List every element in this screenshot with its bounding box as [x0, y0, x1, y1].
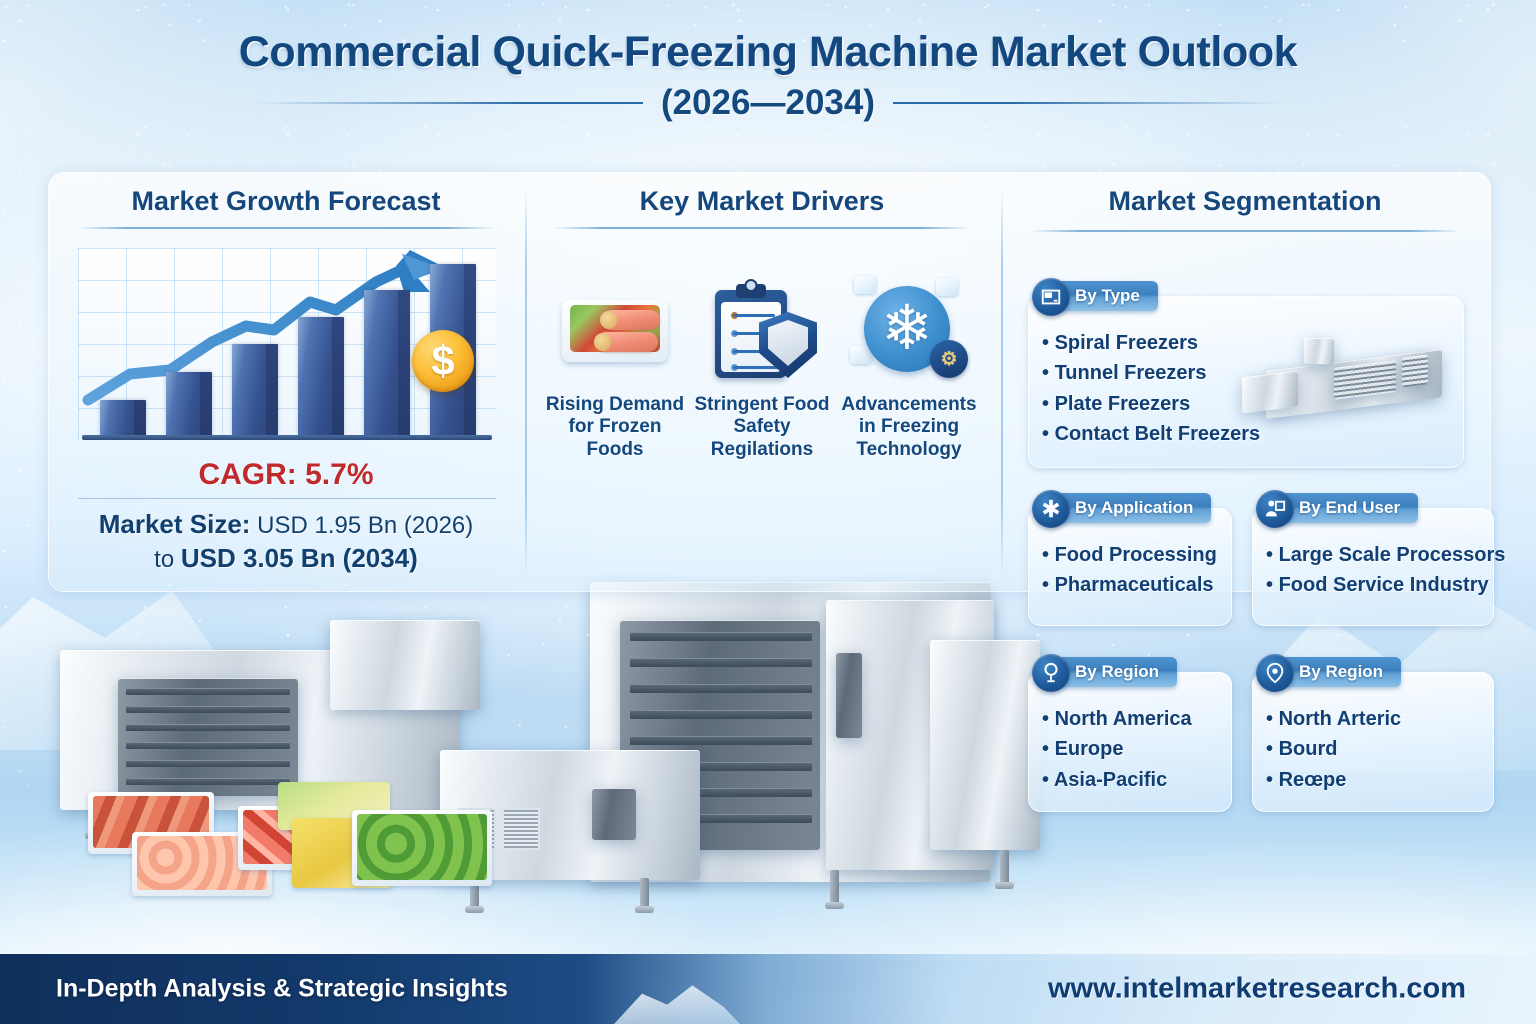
iceberg-decoration	[600, 978, 740, 1024]
infographic-root: Commercial Quick-Freezing Machine Market…	[0, 0, 1536, 1024]
segment-items: North Arteric Bourd Reœpe	[1266, 704, 1401, 795]
market-size-line2: to USD 3.05 Bn (2034)	[66, 542, 506, 576]
control-panel-screen	[836, 652, 862, 738]
segment-card-by-region-2[interactable]: By Region North Arteric Bourd Reœpe	[1252, 672, 1494, 812]
side-cabinet	[930, 640, 1040, 850]
machine-leg	[640, 878, 649, 908]
freezer-shelf	[126, 706, 290, 713]
medical-cross-icon	[1032, 490, 1070, 528]
footer-tagline: In-Depth Analysis & Strategic Insights	[56, 975, 508, 1004]
segment-badge-label: By End User	[1299, 498, 1400, 518]
segment-items: Large Scale Processors Food Service Indu…	[1266, 540, 1505, 601]
snowflake-glyph: ❄	[881, 298, 933, 360]
list-item: Food Service Industry	[1266, 570, 1505, 600]
machine-leg	[300, 808, 309, 834]
key-drivers-panel: Key Market Drivers Rising Demand for Fro…	[536, 186, 988, 580]
list-item: Spiral Freezers	[1042, 328, 1260, 358]
list-item: Tunnel Freezers	[1042, 358, 1260, 388]
list-item: Reœpe	[1266, 765, 1401, 795]
bar-2	[166, 372, 212, 436]
freezer-shelf	[126, 724, 290, 731]
roll-end	[600, 311, 617, 329]
spiral-belt-tier	[630, 710, 812, 719]
ice-cube	[936, 278, 958, 296]
driver-label: Advancements in Freezing Technology	[836, 394, 982, 461]
list-item: Europe	[1042, 734, 1192, 764]
subtitle-row: (2026—2034)	[0, 83, 1536, 123]
driver-list: Rising Demand for Frozen Foods	[542, 274, 982, 461]
footer-url[interactable]: www.intelmarketresearch.com	[1048, 973, 1466, 1006]
market-size-lead: Market Size:	[99, 509, 251, 539]
map-pin-icon	[1032, 654, 1070, 692]
checklist-line	[733, 366, 779, 369]
market-size-line2-value: USD 3.05 Bn (2034)	[181, 543, 418, 573]
compressor-unit	[440, 750, 700, 880]
spiral-belt-tier	[630, 684, 812, 693]
shield-inner	[768, 320, 808, 366]
segment-card-by-type[interactable]: By Type Spiral Freezers Tunnel Freezers …	[1028, 296, 1464, 468]
sausages	[93, 796, 209, 848]
dollar-coin-icon: $	[412, 330, 474, 392]
driver-label: Stringent Food Safety Regilations	[689, 394, 835, 461]
bar-3	[232, 344, 278, 436]
market-growth-title: Market Growth Forecast	[60, 186, 512, 217]
page-title: Commercial Quick-Freezing Machine Market…	[0, 28, 1536, 77]
bar-5	[364, 290, 410, 436]
key-drivers-rule	[553, 227, 971, 229]
frozen-meat-tray	[238, 806, 370, 870]
spiral-belt-tier	[630, 788, 812, 797]
worker-chart-icon	[1256, 490, 1294, 528]
segment-badge-pill: By End User	[1273, 493, 1418, 523]
freezer-shelf	[126, 778, 290, 785]
vegetables	[357, 814, 487, 880]
chart-baseline	[82, 435, 492, 440]
segment-badge-label: By Region	[1075, 662, 1159, 682]
bar-1	[100, 400, 146, 436]
checklist-line	[733, 314, 775, 317]
frozen-vegetable-basket	[352, 810, 492, 886]
segment-badge: By Region	[1032, 654, 1177, 690]
driver-item: ❄ ⚙ Advancements in Freezing Technology	[836, 274, 982, 461]
spiral-belt-tier	[630, 632, 812, 641]
clipboard-shield-icon	[703, 274, 821, 384]
market-size-line1: Market Size: USD 1.95 Bn (2026)	[66, 508, 506, 542]
thumb-stack	[1304, 338, 1334, 364]
segment-card-by-end-user[interactable]: By End User Large Scale Processors Food …	[1252, 508, 1494, 626]
spiral-freezer-chamber	[620, 620, 820, 850]
location-drop-icon	[1256, 654, 1294, 692]
segment-items: Spiral Freezers Tunnel Freezers Plate Fr…	[1042, 328, 1260, 450]
spiral-freezer-body	[590, 582, 990, 882]
control-cabinet	[826, 600, 994, 870]
tunnel-freezer-background	[60, 650, 460, 810]
segmentation-rule	[1030, 230, 1460, 232]
market-size-value: USD 1.95 Bn (2026)	[250, 512, 473, 539]
meat-cuts	[243, 810, 365, 864]
spiral-belt-tier	[630, 658, 812, 667]
clipboard-clip	[736, 284, 766, 298]
list-item: Large Scale Processors	[1266, 540, 1505, 570]
freezer-shelf	[126, 688, 290, 695]
driver-item: Stringent Food Safety Regilations	[689, 274, 835, 461]
freezer-shelf	[126, 742, 290, 749]
frozen-shrimp-tray	[132, 832, 272, 896]
list-item: Pharmaceuticals	[1042, 570, 1217, 600]
segment-badge: By Region	[1256, 654, 1401, 690]
segment-badge-label: By Type	[1075, 286, 1140, 306]
bar-4	[298, 317, 344, 436]
segment-badge: By End User	[1256, 490, 1418, 526]
segment-badge-label: By Application	[1075, 498, 1193, 518]
list-item: Asia-Pacific	[1042, 765, 1192, 795]
spiral-belt-tier	[630, 762, 812, 771]
glacier-left	[0, 580, 220, 750]
driver-label: Rising Demand for Frozen Foods	[542, 394, 688, 461]
freezer-shelf	[126, 760, 290, 767]
list-item: Contact Belt Freezers	[1042, 419, 1260, 449]
market-growth-rule	[77, 227, 495, 229]
frozen-sausage-tray	[88, 792, 214, 854]
list-item: Plate Freezers	[1042, 389, 1260, 419]
list-item: North Arteric	[1266, 704, 1401, 734]
list-item: Bourd	[1266, 734, 1401, 764]
cagr-value: CAGR: 5.7%	[60, 458, 512, 492]
packaged-yellow-box	[292, 818, 392, 888]
frozen-food-tray-icon	[556, 274, 674, 384]
segment-badge-label: By Region	[1299, 662, 1383, 682]
panel-divider-right	[1001, 188, 1003, 576]
machine-leg	[470, 878, 479, 908]
market-size-line2-lead: to	[154, 546, 181, 573]
machine-leg	[830, 870, 839, 904]
conveyor-extension	[330, 620, 480, 710]
machine-leg	[1000, 850, 1009, 884]
subtitle-years: (2026—2034)	[661, 83, 875, 123]
subtitle-rule-left	[253, 102, 643, 104]
segment-badge: By Type	[1032, 278, 1158, 314]
segment-items: North America Europe Asia-Pacific	[1042, 704, 1192, 795]
key-drivers-title: Key Market Drivers	[536, 186, 988, 217]
segmentation-title: Market Segmentation	[1012, 186, 1478, 217]
segment-items: Food Processing Pharmaceuticals	[1042, 540, 1217, 601]
driver-item: Rising Demand for Frozen Foods	[542, 274, 688, 461]
panel-divider-left	[525, 188, 527, 576]
footer: In-Depth Analysis & Strategic Insights w…	[0, 954, 1536, 1024]
market-growth-panel: Market Growth Forecast	[60, 186, 512, 580]
snowflake-tech-icon: ❄ ⚙	[850, 274, 968, 384]
header: Commercial Quick-Freezing Machine Market…	[0, 28, 1536, 123]
segment-badge: By Application	[1032, 490, 1211, 526]
market-size-text: Market Size: USD 1.95 Bn (2026) to USD 3…	[66, 508, 506, 575]
roll-end	[594, 333, 611, 351]
segment-card-by-region-1[interactable]: By Region North America Europe Asia-Paci…	[1028, 672, 1232, 812]
thumb-inlet	[1242, 371, 1298, 414]
subtitle-rule-right	[893, 102, 1283, 104]
tunnel-freezer-interior	[118, 678, 298, 796]
list-item: North America	[1042, 704, 1192, 734]
air-vent	[502, 808, 540, 850]
thumb-grille	[1402, 354, 1428, 387]
ice-cube	[854, 276, 876, 294]
segment-badge-pill: By Application	[1049, 493, 1211, 523]
freezer-machine-thumbnail	[1242, 330, 1454, 428]
growth-chart: $	[78, 248, 496, 440]
freezer-unit-icon	[1032, 278, 1070, 316]
air-vent	[458, 808, 496, 850]
cagr-rule	[78, 498, 496, 499]
access-door-panel	[592, 788, 636, 840]
shrimp	[137, 836, 267, 890]
technology-badge-icon: ⚙	[930, 340, 968, 378]
packaged-product	[278, 782, 390, 830]
spiral-belt-tier	[630, 814, 812, 823]
segment-card-by-application[interactable]: By Application Food Processing Pharmaceu…	[1028, 508, 1232, 626]
spiral-belt-tier	[630, 736, 812, 745]
list-item: Food Processing	[1042, 540, 1217, 570]
machine-leg	[90, 808, 99, 834]
